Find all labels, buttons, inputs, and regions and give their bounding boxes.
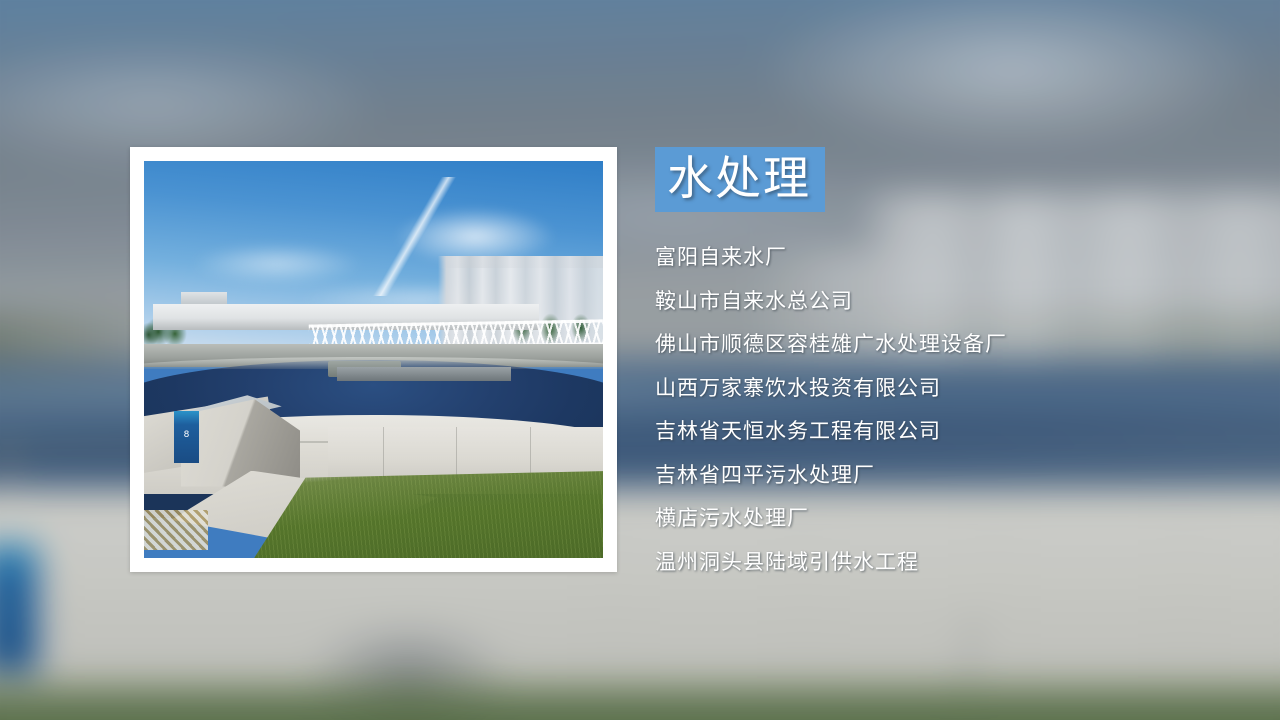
list-item: 横店污水处理厂 (655, 497, 1255, 541)
list-item: 富阳自来水厂 (655, 236, 1255, 280)
photo-frame: 8 (130, 147, 617, 572)
list-item: 吉林省天恒水务工程有限公司 (655, 410, 1255, 454)
list-item: 佛山市顺德区容桂雄广水处理设备厂 (655, 323, 1255, 367)
list-item: 山西万家寨饮水投资有限公司 (655, 367, 1255, 411)
page-title-badge: 水处理 (655, 147, 825, 212)
list-item: 吉林省四平污水处理厂 (655, 454, 1255, 498)
basin-number-label: 8 (176, 431, 197, 451)
page-title: 水处理 (667, 153, 811, 203)
list-item: 温州洞头县陆域引供水工程 (655, 541, 1255, 585)
slide-canvas: 8 水处理 富阳自来水厂 鞍山市自来水总公司 佛山市顺德区容桂雄广水处理设备厂 … (0, 0, 1280, 720)
water-treatment-plant-photo: 8 (144, 161, 603, 558)
company-list: 富阳自来水厂 鞍山市自来水总公司 佛山市顺德区容桂雄广水处理设备厂 山西万家寨饮… (655, 236, 1255, 584)
list-item: 鞍山市自来水总公司 (655, 280, 1255, 324)
content-column: 水处理 富阳自来水厂 鞍山市自来水总公司 佛山市顺德区容桂雄广水处理设备厂 山西… (655, 147, 1255, 584)
